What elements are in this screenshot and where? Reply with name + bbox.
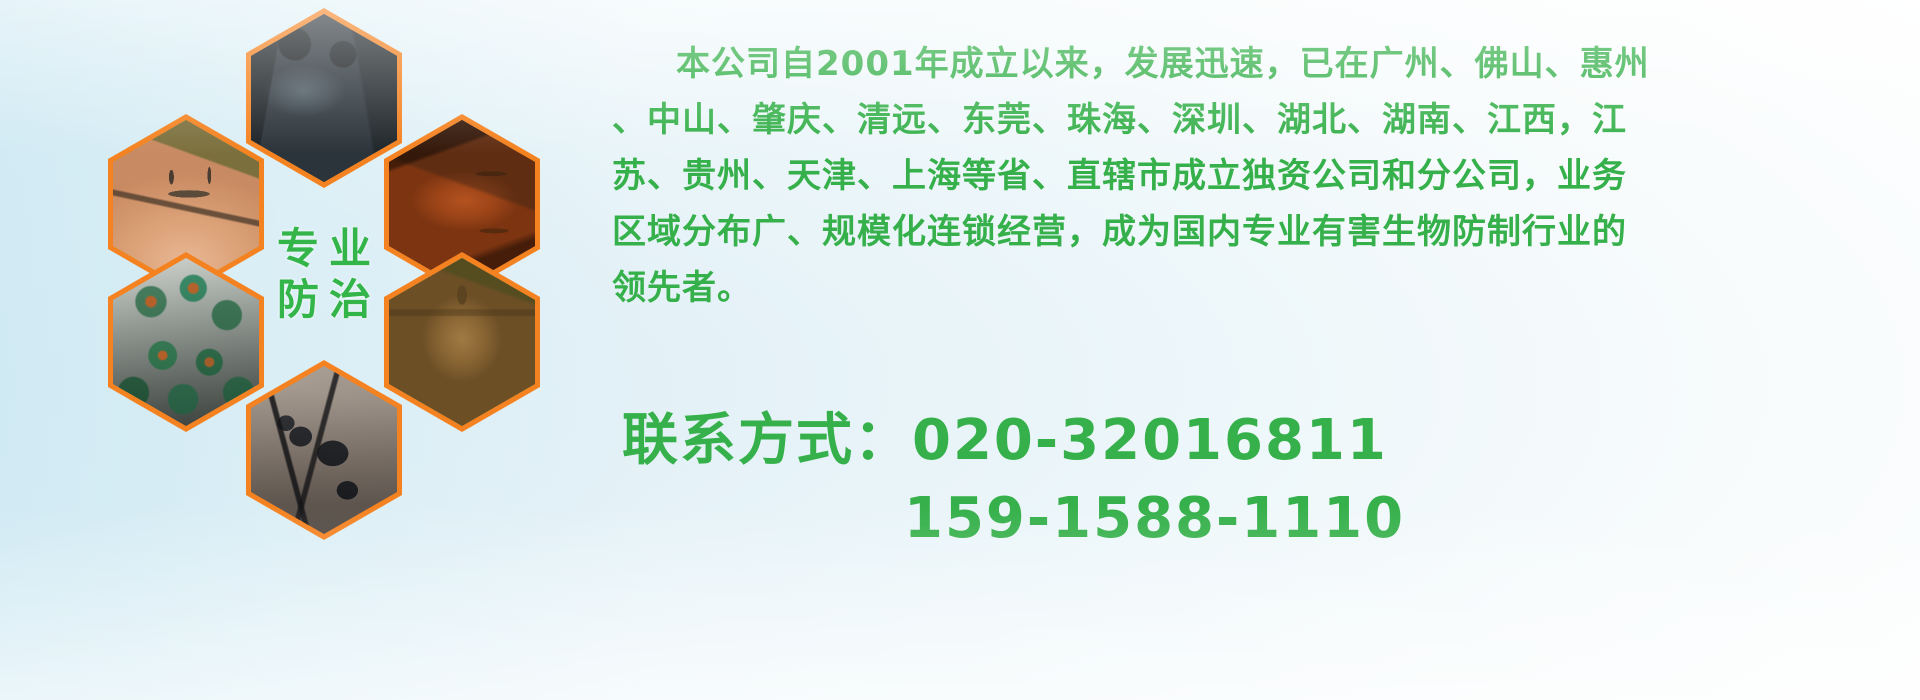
intro-line-1: 本公司自2001年成立以来，发展迅速，已在广州、佛山、惠州 bbox=[612, 36, 1902, 92]
hex-photo-ant-inner bbox=[251, 366, 397, 534]
badge-专业防治: 专业 防治 bbox=[246, 184, 402, 364]
hex-photo-ant[interactable] bbox=[246, 360, 402, 540]
intro-line-3: 苏、贵州、天津、上海等省、直辖市成立独资公司和分公司，业务 bbox=[612, 148, 1902, 204]
fly-photo-icon bbox=[113, 258, 259, 426]
intro-line-2: 、中山、肇庆、清远、东莞、珠海、深圳、湖北、湖南、江西，江 bbox=[612, 92, 1902, 148]
rat-photo-icon bbox=[251, 14, 397, 182]
hex-photo-stinkbug-inner bbox=[389, 258, 535, 426]
hexagon-photo-cluster: 专业 防治 bbox=[96, 8, 596, 568]
badge-line-2: 防治 bbox=[267, 274, 381, 325]
hex-photo-rat[interactable] bbox=[246, 8, 402, 188]
hex-photo-fly-inner bbox=[113, 258, 259, 426]
badge-line-1: 专业 bbox=[267, 223, 381, 274]
stinkbug-photo-icon bbox=[389, 258, 535, 426]
banner-stage: 专业 防治 本公司自2001年成立以来，发展迅速，已在广州、佛山、惠州 、中山、… bbox=[0, 0, 1920, 700]
contact-phone-secondary[interactable]: 159-1588-1110 bbox=[622, 480, 1822, 558]
intro-line-4: 区域分布广、规模化连锁经营，成为国内专业有害生物防制行业的 bbox=[612, 204, 1902, 260]
company-intro-paragraph: 本公司自2001年成立以来，发展迅速，已在广州、佛山、惠州 、中山、肇庆、清远、… bbox=[612, 36, 1902, 316]
contact-block: 联系方式：020-32016811 159-1588-1110 bbox=[622, 402, 1822, 558]
contact-phone-primary[interactable]: 联系方式：020-32016811 bbox=[622, 402, 1822, 480]
intro-line-5: 领先者。 bbox=[612, 260, 1902, 316]
hex-photo-rat-inner bbox=[251, 14, 397, 182]
ant-photo-icon bbox=[251, 366, 397, 534]
hex-photo-fly[interactable] bbox=[108, 252, 264, 432]
hex-photo-stinkbug[interactable] bbox=[384, 252, 540, 432]
